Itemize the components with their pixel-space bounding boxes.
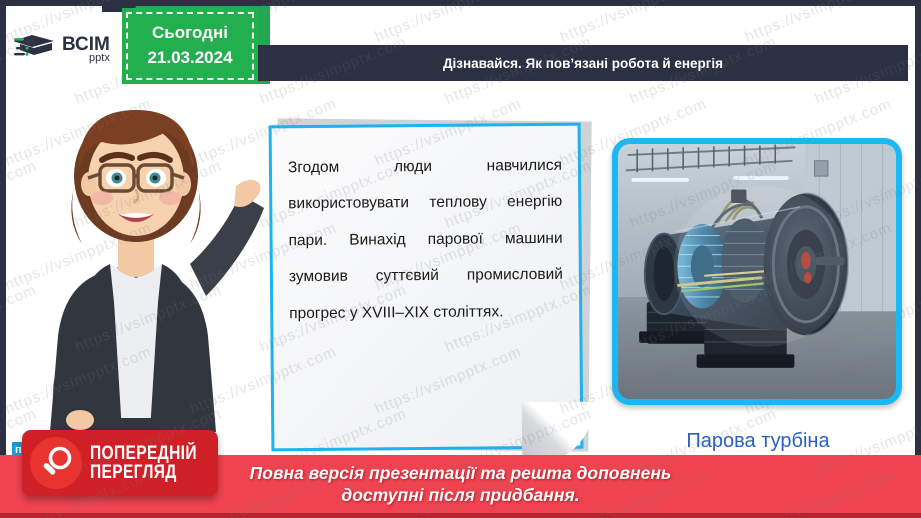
steam-turbine-photo: [612, 138, 902, 405]
presentation-slide: ВСІМ pptx Сьогодні 21.03.2024 Дізнавайся…: [0, 0, 921, 518]
banner-line-1: Повна версія презентації та решта доповн…: [250, 462, 672, 484]
preview-badge-line-1: ПОПЕРЕДНІЙ: [90, 444, 197, 463]
teacher-character: [14, 68, 264, 468]
preview-badge-text: ПОПЕРЕДНІЙ ПЕРЕГЛЯД: [90, 444, 220, 483]
preview-badge: ПОПЕРЕДНІЙ ПЕРЕГЛЯД: [22, 430, 218, 496]
slide-header-bar: Дізнавайся. Як пов’язані робота й енергі…: [258, 45, 908, 81]
graduation-cap-icon: [14, 31, 60, 67]
date-badge: Сьогодні 21.03.2024: [122, 8, 258, 84]
brand-logo-text: ВСІМ pptx: [62, 35, 110, 64]
card-paragraph: Згодом люди навчилися використовувати те…: [288, 148, 564, 332]
date-badge-label: Сьогодні: [152, 21, 228, 46]
picture-caption: Парова турбіна: [612, 430, 904, 453]
magnifier-icon: [30, 437, 82, 489]
date-badge-value: 21.03.2024: [147, 46, 232, 71]
preview-badge-line-2: ПЕРЕГЛЯД: [90, 463, 197, 482]
content-text-card: Згодом люди навчилися використовувати те…: [270, 124, 588, 454]
page-title: Дізнавайся. Як пов’язані робота й енергі…: [443, 56, 723, 71]
brand-name: ВСІМ: [62, 35, 110, 54]
banner-line-2: доступні після придбання.: [341, 484, 579, 506]
